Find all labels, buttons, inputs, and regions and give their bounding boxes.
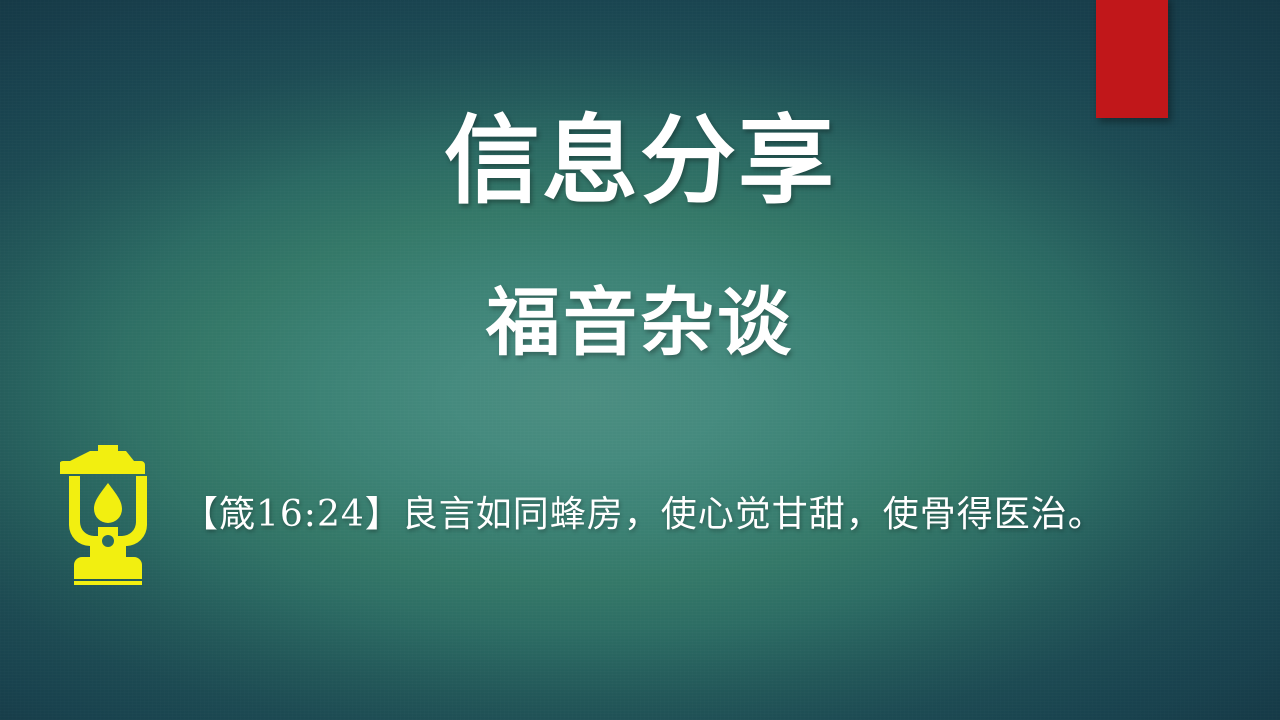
oil-lamp-icon xyxy=(60,445,156,585)
presentation-slide: 信息分享 福音杂谈 xyxy=(0,0,1280,720)
red-accent-rectangle xyxy=(1096,0,1168,118)
slide-subtitle: 福音杂谈 xyxy=(0,280,1280,365)
scripture-verse-text: 【箴16:24】良言如同蜂房，使心觉甘甜，使骨得医治。 xyxy=(182,491,1250,540)
scripture-verse-row: 【箴16:24】良言如同蜂房，使心觉甘甜，使骨得医治。 xyxy=(60,440,1250,590)
slide-title: 信息分享 xyxy=(0,108,1280,216)
